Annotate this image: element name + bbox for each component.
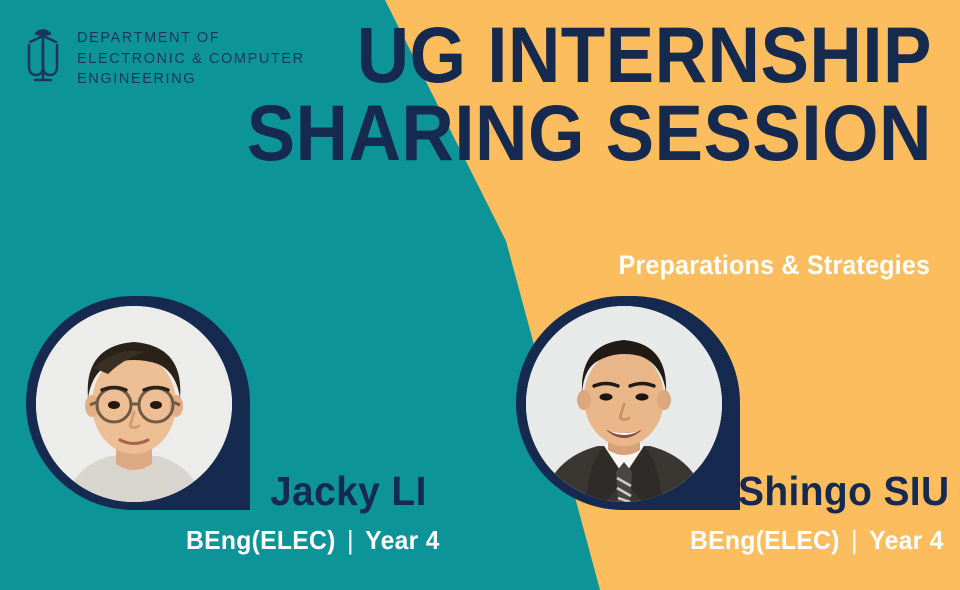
speaker-year-1: Year 4	[365, 525, 440, 556]
crest-icon	[22, 22, 64, 84]
photo-frame-2	[516, 296, 740, 510]
speaker-name-1: Jacky LI	[270, 468, 427, 515]
poster-canvas: DEPARTMENT OF ELECTRONIC & COMPUTER ENGI…	[0, 0, 960, 590]
photo-clip-2	[526, 306, 722, 502]
speaker-meta-separator-1: |	[347, 525, 354, 556]
speaker-degree-1: BEng(ELEC)	[186, 525, 336, 556]
speaker-meta-separator-2: |	[851, 525, 858, 556]
speaker-year-2: Year 4	[869, 525, 944, 556]
headline: UG INTERNSHIP SHARING SESSION	[187, 18, 932, 170]
speaker-degree-2: BEng(ELEC)	[690, 525, 840, 556]
headline-line-2: SHARING SESSION	[247, 96, 932, 169]
headline-subtitle: Preparations & Strategies	[618, 250, 930, 281]
photo-clip-1	[36, 306, 232, 502]
speaker-name-2: Shingo SIU	[738, 468, 950, 515]
portrait-shingo-siu	[526, 306, 722, 502]
portrait-jacky-li	[36, 306, 232, 502]
speaker-meta-1: BEng(ELEC) | Year 4	[186, 525, 440, 556]
speaker-meta-2: BEng(ELEC) | Year 4	[690, 525, 944, 556]
headline-line-1: UG INTERNSHIP	[247, 18, 932, 91]
photo-frame-1	[26, 296, 250, 510]
